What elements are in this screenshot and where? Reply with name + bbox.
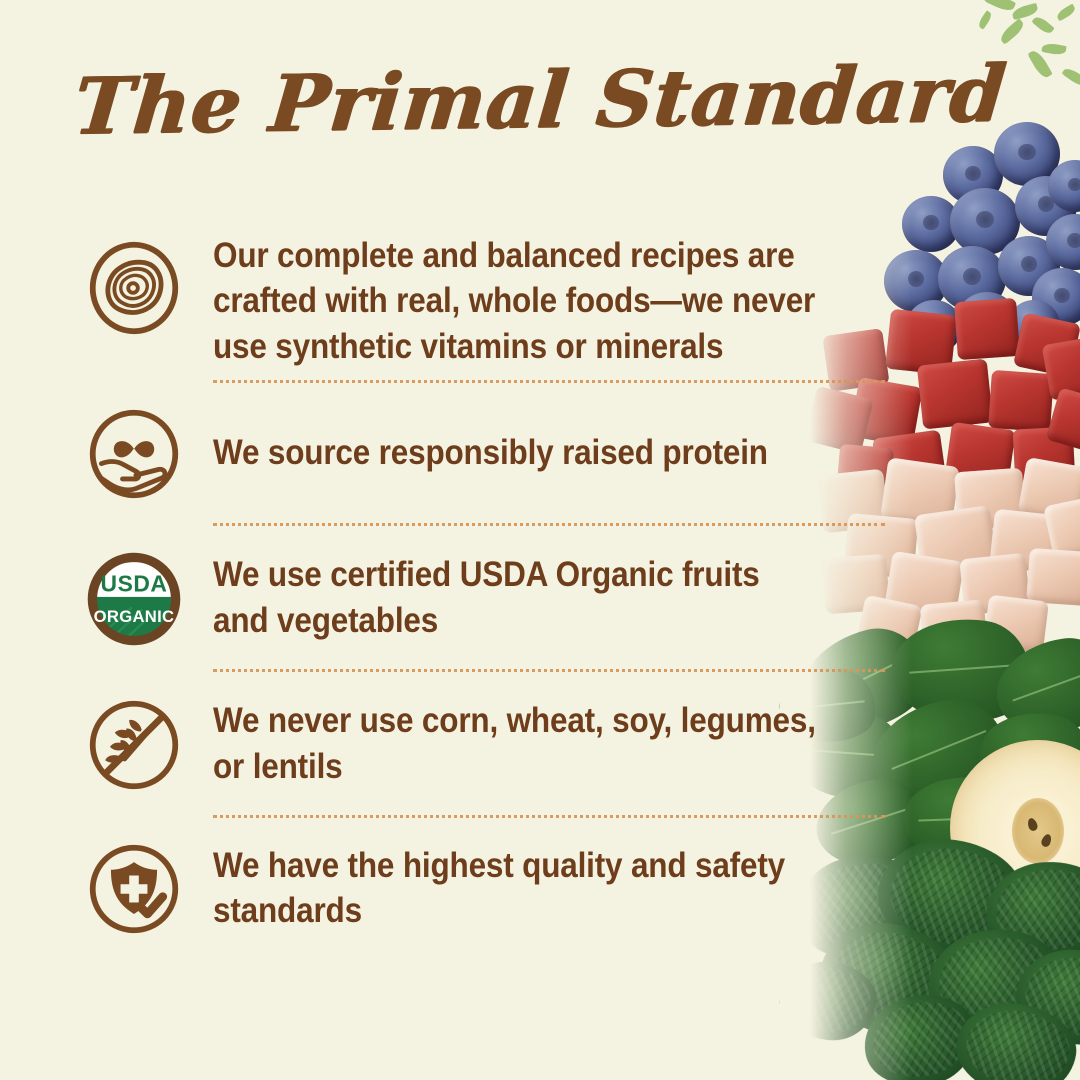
standard-text: Our complete and balanced recipes are cr… — [213, 233, 817, 370]
standard-text: We never use corn, wheat, soy, legumes, … — [213, 698, 817, 789]
icon-cell: USDA ORGANIC — [72, 526, 196, 669]
list-item: We source responsibly raised protein — [72, 383, 884, 523]
text-cell: We use certified USDA Organic fruits and… — [196, 526, 884, 669]
list-item: USDA ORGANIC We use certified USDA Organ… — [72, 526, 884, 669]
standards-list: Our complete and balanced recipes are cr… — [72, 222, 884, 958]
infographic-canvas: The Primal Standard Our complete and bal… — [0, 0, 1080, 1080]
icon-cell — [72, 222, 196, 336]
standard-text: We have the highest quality and safety s… — [213, 843, 817, 934]
title-container: The Primal Standard — [0, 62, 1080, 140]
standard-text: We use certified USDA Organic fruits and… — [213, 552, 817, 643]
page-title: The Primal Standard — [71, 56, 1009, 147]
usda-top-label: USDA — [101, 570, 168, 596]
list-item: Our complete and balanced recipes are cr… — [72, 222, 884, 380]
text-cell: We have the highest quality and safety s… — [196, 818, 884, 958]
list-item: We never use corn, wheat, soy, legumes, … — [72, 672, 884, 815]
text-cell: We never use corn, wheat, soy, legumes, … — [196, 672, 884, 815]
usda-bottom-label: ORGANIC — [94, 606, 175, 625]
no-grain-icon — [86, 697, 182, 793]
divider — [213, 523, 885, 526]
text-cell: Our complete and balanced recipes are cr… — [196, 222, 884, 380]
usda-organic-seal-icon: USDA ORGANIC — [82, 547, 186, 651]
icon-cell — [72, 672, 196, 815]
hand-heart-icon — [86, 406, 182, 502]
divider — [213, 669, 885, 672]
icon-cell — [72, 818, 196, 958]
icon-cell — [72, 383, 196, 523]
list-item: We have the highest quality and safety s… — [72, 818, 884, 958]
text-cell: We source responsibly raised protein — [196, 383, 884, 523]
standard-text: We source responsibly raised protein — [213, 430, 768, 476]
shield-check-icon — [86, 841, 182, 937]
divider — [213, 815, 885, 818]
steak-icon — [86, 240, 182, 336]
divider — [213, 380, 885, 383]
